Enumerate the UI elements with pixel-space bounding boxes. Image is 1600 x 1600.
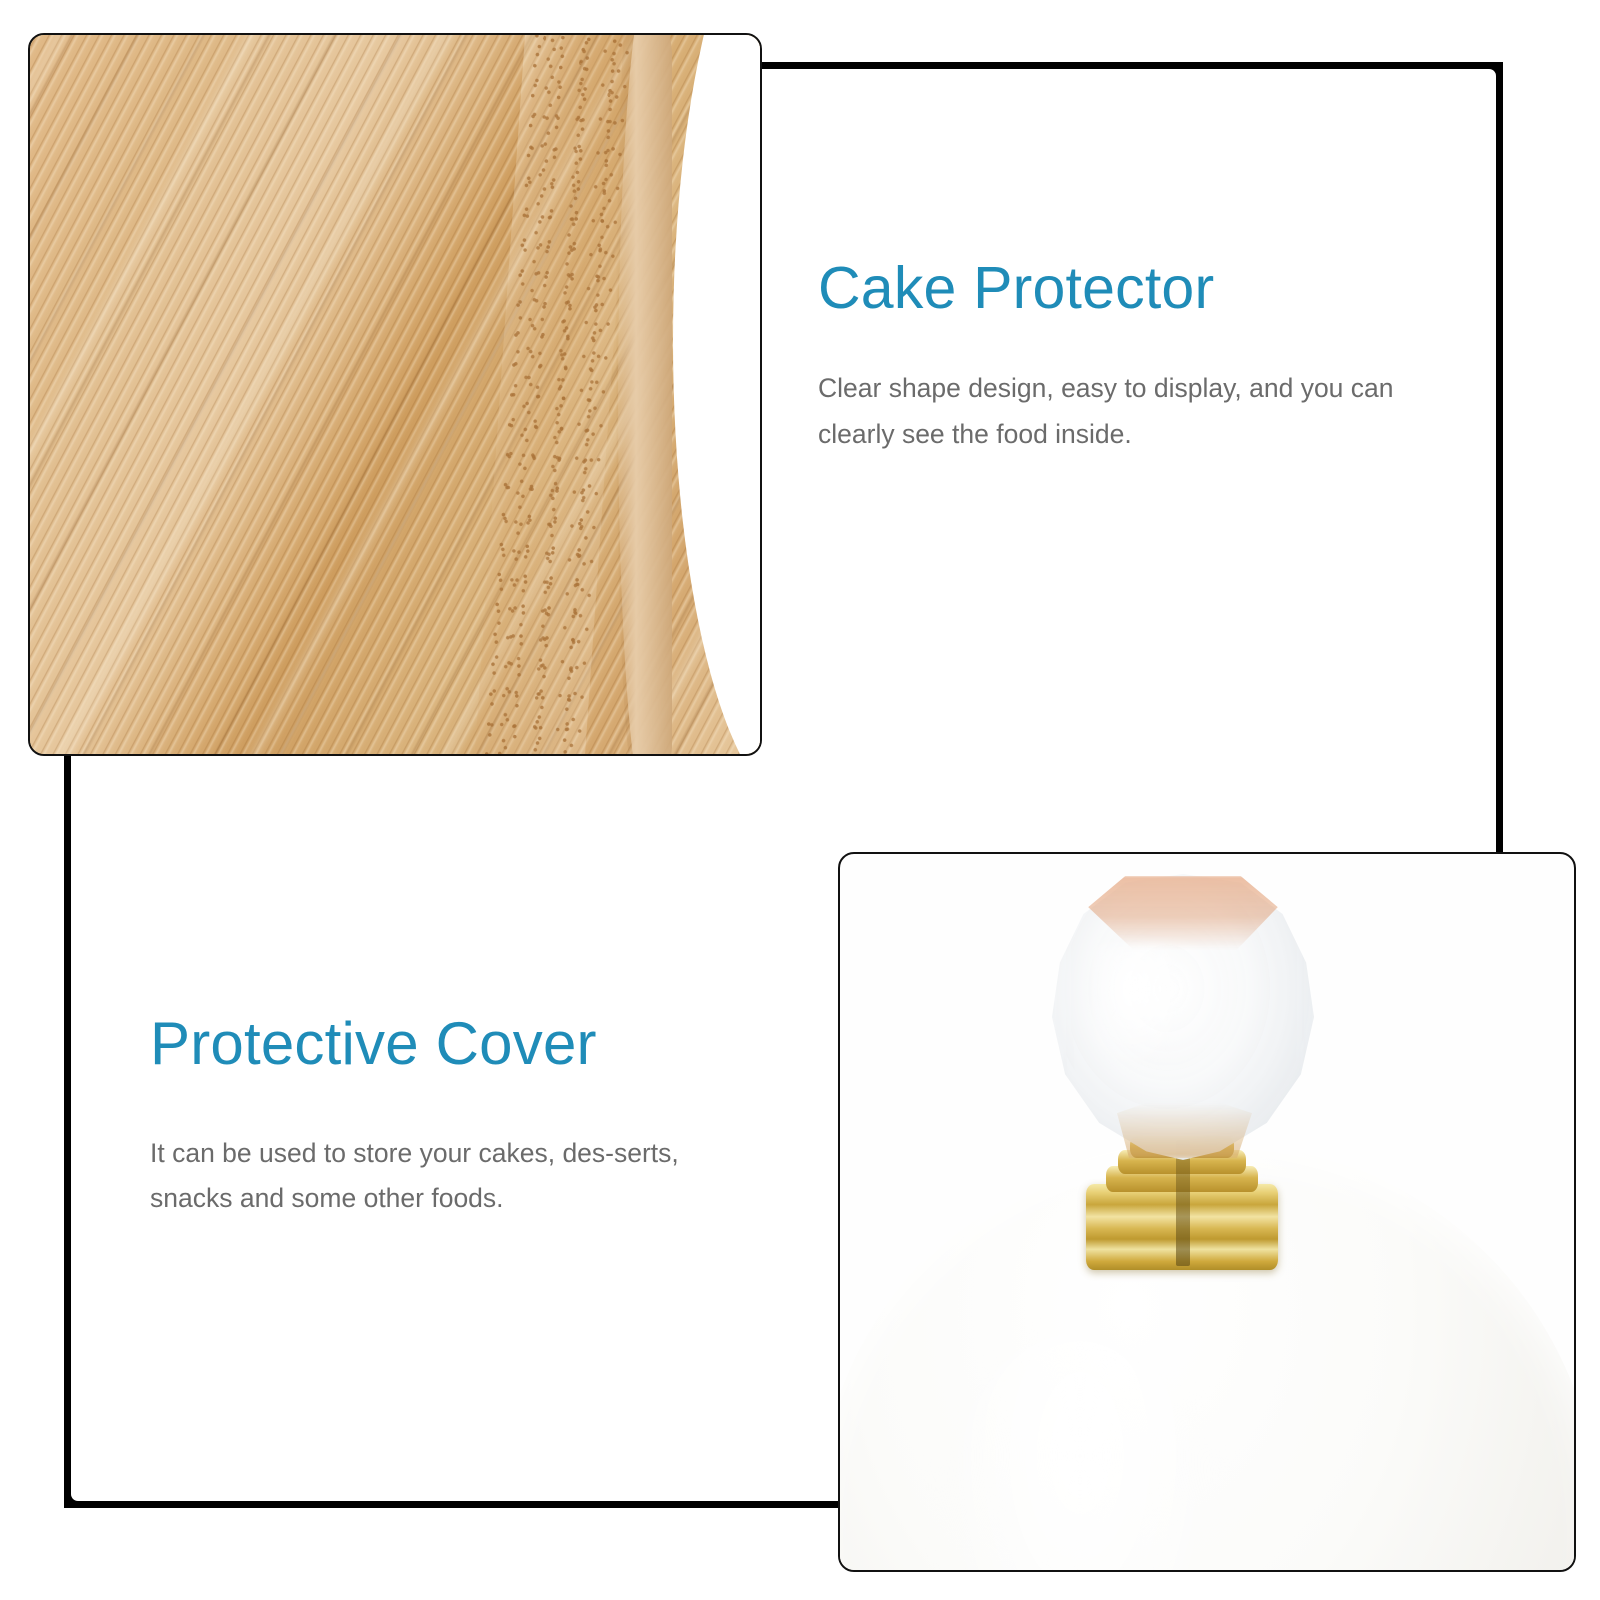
frame-corner-top-right bbox=[1473, 62, 1503, 92]
frame-line-top bbox=[710, 62, 1503, 69]
frame-corner-bottom-left bbox=[64, 1478, 94, 1508]
frame-line-right bbox=[1496, 62, 1503, 855]
infographic-canvas: Cake Protector Clear shape design, easy … bbox=[0, 0, 1600, 1600]
body-cake-protector: Clear shape design, easy to display, and… bbox=[818, 366, 1438, 457]
bamboo-board-image bbox=[28, 33, 762, 756]
frame-line-left bbox=[64, 748, 71, 1508]
body-protective-cover: It can be used to store your cakes, des-… bbox=[150, 1131, 750, 1221]
feature-block-cake-protector: Cake Protector Clear shape design, easy … bbox=[818, 258, 1438, 457]
feature-block-protective-cover: Protective Cover It can be used to store… bbox=[150, 1012, 750, 1221]
headline-protective-cover: Protective Cover bbox=[150, 1012, 750, 1075]
crystal-knob-image bbox=[838, 852, 1576, 1572]
crystal-specular-highlight bbox=[1094, 944, 1190, 1072]
frame-line-bottom bbox=[64, 1501, 842, 1508]
headline-cake-protector: Cake Protector bbox=[818, 258, 1438, 320]
